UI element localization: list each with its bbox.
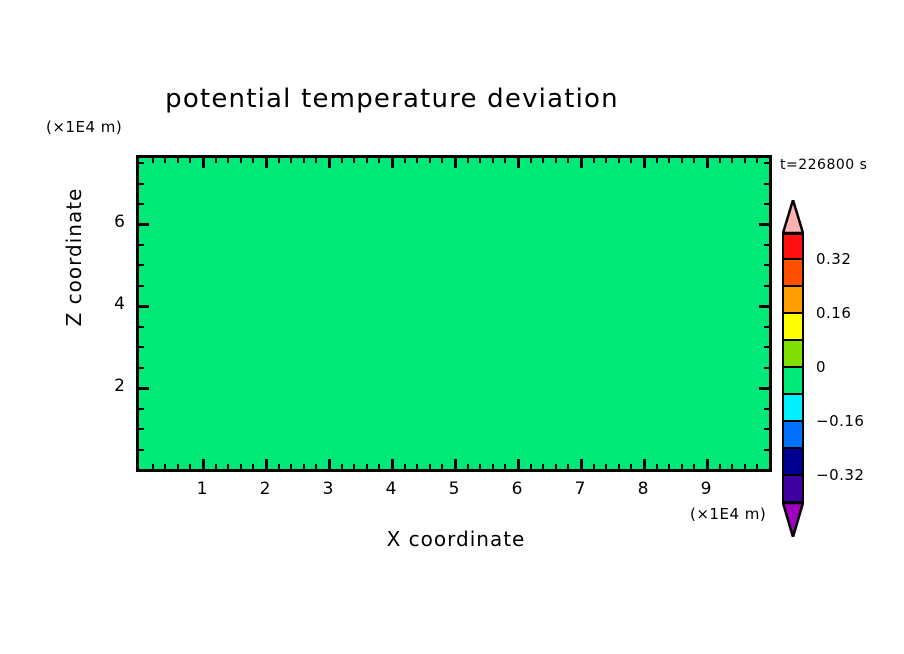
y-tick-right: [764, 408, 769, 410]
x-tick-bottom: [202, 459, 205, 469]
x-tick-top: [265, 158, 268, 168]
x-tick-top: [530, 158, 532, 163]
x-tick-label: 1: [187, 479, 217, 499]
y-tick-left: [139, 223, 149, 226]
x-tick-label: 2: [250, 479, 280, 499]
y-tick-label: 4: [95, 294, 125, 314]
x-tick-bottom: [567, 464, 569, 469]
x-tick-bottom: [693, 464, 695, 469]
x-tick-bottom: [278, 464, 280, 469]
x-tick-top: [668, 158, 670, 163]
y-tick-left: [139, 367, 144, 369]
x-tick-top: [353, 158, 355, 163]
x-axis-title: X coordinate: [336, 527, 576, 551]
x-tick-top: [492, 158, 494, 163]
x-tick-top: [303, 158, 305, 163]
x-tick-top: [290, 158, 292, 163]
y-tick-left: [139, 387, 149, 390]
colorbar-segment: [782, 314, 804, 341]
x-tick-top: [152, 158, 154, 163]
x-tick-top: [202, 158, 205, 168]
y-tick-left: [139, 449, 144, 451]
x-tick-bottom: [580, 459, 583, 469]
y-tick-left: [139, 162, 144, 164]
x-tick-top: [731, 158, 733, 163]
x-tick-bottom: [290, 464, 292, 469]
x-tick-bottom: [593, 464, 595, 469]
x-tick-bottom: [404, 464, 406, 469]
x-tick-bottom: [315, 464, 317, 469]
x-tick-top: [580, 158, 583, 168]
x-tick-bottom: [441, 464, 443, 469]
x-tick-bottom: [681, 464, 683, 469]
y-tick-left: [139, 285, 144, 287]
x-tick-top: [593, 158, 595, 163]
x-tick-bottom: [668, 464, 670, 469]
colorbar-tick-label: 0.16: [816, 304, 851, 322]
x-tick-top: [643, 158, 646, 168]
x-tick-bottom: [454, 459, 457, 469]
y-tick-label: 2: [95, 376, 125, 396]
x-tick-bottom: [656, 464, 658, 469]
x-tick-top: [441, 158, 443, 163]
y-tick-left: [139, 244, 144, 246]
x-tick-top: [744, 158, 746, 163]
x-tick-bottom: [378, 464, 380, 469]
y-tick-left: [139, 326, 144, 328]
x-tick-top: [542, 158, 544, 163]
x-tick-top: [605, 158, 607, 163]
x-tick-top: [504, 158, 506, 163]
x-tick-bottom: [555, 464, 557, 469]
x-tick-top: [215, 158, 217, 163]
x-tick-bottom: [492, 464, 494, 469]
x-tick-top: [706, 158, 709, 168]
colorbar[interactable]: 0.320.160−0.16−0.32: [782, 200, 806, 505]
x-tick-bottom: [265, 459, 268, 469]
x-tick-bottom: [429, 464, 431, 469]
x-tick-bottom: [303, 464, 305, 469]
x-tick-bottom: [630, 464, 632, 469]
x-tick-bottom: [517, 459, 520, 469]
y-tick-left: [139, 428, 144, 430]
y-tick-left: [139, 203, 144, 205]
x-tick-top: [391, 158, 394, 168]
page-title: potential temperature deviation: [0, 84, 844, 114]
x-tick-top: [567, 158, 569, 163]
x-tick-bottom: [416, 464, 418, 469]
colorbar-segment: [782, 260, 804, 287]
x-tick-bottom: [756, 464, 758, 469]
y-tick-right: [764, 346, 769, 348]
colorbar-segment: [782, 476, 804, 503]
colorbar-tick-label: −0.32: [816, 466, 864, 484]
x-tick-top: [189, 158, 191, 163]
x-tick-top: [278, 158, 280, 163]
x-tick-bottom: [542, 464, 544, 469]
x-tick-label: 3: [313, 479, 343, 499]
x-tick-bottom: [152, 464, 154, 469]
x-tick-top: [630, 158, 632, 163]
x-tick-bottom: [605, 464, 607, 469]
x-tick-top: [693, 158, 695, 163]
colorbar-segment: [782, 233, 804, 260]
y-tick-right: [759, 305, 769, 308]
colorbar-segment: [782, 368, 804, 395]
x-tick-bottom: [618, 464, 620, 469]
x-tick-top: [656, 158, 658, 163]
x-tick-bottom: [391, 459, 394, 469]
y-tick-right: [764, 367, 769, 369]
x-tick-bottom: [744, 464, 746, 469]
y-tick-right: [764, 264, 769, 266]
y-tick-right: [764, 428, 769, 430]
x-tick-top: [315, 158, 317, 163]
x-tick-top: [227, 158, 229, 163]
x-tick-top: [177, 158, 179, 163]
x-tick-top: [252, 158, 254, 163]
x-tick-bottom: [215, 464, 217, 469]
contour-field: [139, 158, 769, 469]
colorbar-segment: [782, 287, 804, 314]
x-tick-label: 5: [439, 479, 469, 499]
x-tick-top: [416, 158, 418, 163]
y-tick-right: [764, 203, 769, 205]
x-axis-unit-label: (×1E4 m): [690, 505, 766, 523]
y-tick-right: [759, 387, 769, 390]
y-tick-left: [139, 183, 144, 185]
colorbar-segment: [782, 422, 804, 449]
colorbar-tick-label: 0.32: [816, 250, 851, 268]
x-tick-top: [467, 158, 469, 163]
y-axis-title: Z coordinate: [62, 177, 86, 337]
x-tick-top: [517, 158, 520, 168]
x-tick-bottom: [530, 464, 532, 469]
x-tick-label: 6: [502, 479, 532, 499]
x-tick-top: [618, 158, 620, 163]
colorbar-tick-label: −0.16: [816, 412, 864, 430]
x-tick-top: [328, 158, 331, 168]
x-tick-top: [454, 158, 457, 168]
x-tick-bottom: [227, 464, 229, 469]
x-tick-bottom: [240, 464, 242, 469]
y-tick-right: [764, 244, 769, 246]
x-tick-bottom: [341, 464, 343, 469]
y-tick-left: [139, 264, 144, 266]
x-tick-top: [404, 158, 406, 163]
y-tick-right: [764, 162, 769, 164]
x-tick-bottom: [189, 464, 191, 469]
x-tick-top: [681, 158, 683, 163]
x-tick-label: 8: [628, 479, 658, 499]
x-tick-top: [429, 158, 431, 163]
x-tick-bottom: [479, 464, 481, 469]
x-tick-label: 7: [565, 479, 595, 499]
colorbar-segment: [782, 395, 804, 422]
x-tick-top: [366, 158, 368, 163]
colorbar-segment: [782, 341, 804, 368]
colorbar-tick-label: 0: [816, 358, 826, 376]
x-tick-top: [341, 158, 343, 163]
y-tick-left: [139, 346, 144, 348]
x-tick-bottom: [353, 464, 355, 469]
y-tick-left: [139, 305, 149, 308]
colorbar-bottom-arrow: [782, 503, 804, 537]
y-tick-right: [764, 183, 769, 185]
x-tick-top: [240, 158, 242, 163]
y-tick-right: [759, 223, 769, 226]
x-tick-top: [555, 158, 557, 163]
timestamp-annotation: t=226800 s: [780, 157, 867, 173]
x-tick-bottom: [719, 464, 721, 469]
y-tick-left: [139, 408, 144, 410]
colorbar-segment: [782, 449, 804, 476]
x-tick-top: [378, 158, 380, 163]
x-tick-label: 9: [691, 479, 721, 499]
x-tick-bottom: [706, 459, 709, 469]
x-tick-bottom: [467, 464, 469, 469]
x-tick-top: [756, 158, 758, 163]
x-tick-label: 4: [376, 479, 406, 499]
colorbar-top-arrow: [782, 200, 804, 233]
x-tick-top: [719, 158, 721, 163]
y-tick-right: [764, 449, 769, 451]
y-tick-label: 6: [95, 212, 125, 232]
x-tick-bottom: [731, 464, 733, 469]
x-tick-top: [479, 158, 481, 163]
y-axis-unit-label: (×1E4 m): [46, 118, 122, 136]
y-tick-right: [764, 285, 769, 287]
x-tick-top: [164, 158, 166, 163]
x-tick-bottom: [504, 464, 506, 469]
x-tick-bottom: [164, 464, 166, 469]
x-tick-bottom: [252, 464, 254, 469]
contour-plot-area[interactable]: [136, 155, 772, 472]
x-tick-bottom: [366, 464, 368, 469]
y-tick-right: [764, 326, 769, 328]
x-tick-bottom: [177, 464, 179, 469]
x-tick-bottom: [328, 459, 331, 469]
x-tick-bottom: [643, 459, 646, 469]
